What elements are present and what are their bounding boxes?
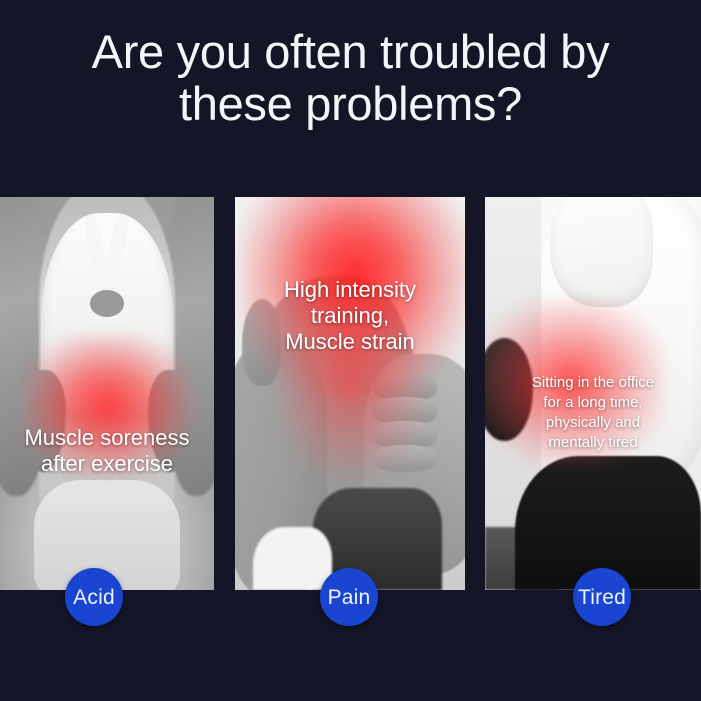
panel-caption: Sitting in the office for a long time, p…: [485, 373, 701, 453]
light-clothing-shape: [253, 527, 331, 590]
badge-pain[interactable]: Pain: [320, 568, 378, 626]
page-title: Are you often troubled by these problems…: [0, 26, 701, 130]
bra-strap-left: [82, 213, 108, 276]
problem-panels: Muscle soreness after exercise High inte…: [0, 197, 701, 590]
muscle-strain-photo: [235, 197, 465, 590]
problem-panel-muscle-soreness[interactable]: Muscle soreness after exercise: [0, 197, 214, 590]
badge-acid[interactable]: Acid: [65, 568, 123, 626]
bra-cutout: [90, 290, 124, 317]
problem-panel-muscle-strain[interactable]: High intensity training, Muscle strain: [235, 197, 465, 590]
muscle-soreness-photo: [0, 197, 214, 590]
problem-panel-office-fatigue[interactable]: Sitting in the office for a long time, p…: [485, 197, 701, 590]
raised-arm-sleeve-shape: [550, 197, 654, 307]
bra-strap-right: [105, 213, 131, 276]
promo-poster: Are you often troubled by these problems…: [0, 0, 701, 701]
panel-caption: Muscle soreness after exercise: [0, 425, 214, 477]
badge-tired[interactable]: Tired: [573, 568, 631, 626]
panel-caption: High intensity training, Muscle strain: [235, 277, 465, 355]
